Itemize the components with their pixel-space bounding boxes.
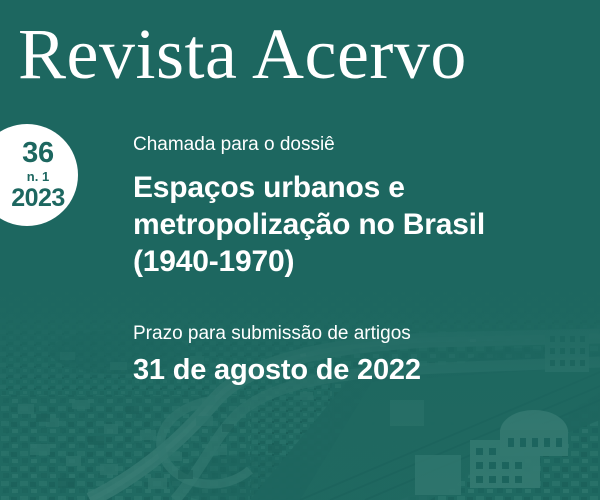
deadline-label: Prazo para submissão de artigos — [133, 322, 580, 346]
call-for-papers-content: Chamada para o dossiê Espaços urbanos e … — [133, 133, 580, 387]
call-eyebrow: Chamada para o dossiê — [133, 133, 580, 157]
deadline-date: 31 de agosto de 2022 — [133, 353, 580, 387]
submission-deadline: Prazo para submissão de artigos 31 de ag… — [133, 322, 580, 387]
journal-title: Revista Acervo — [18, 8, 467, 100]
dossier-title-line-2: metropolização no Brasil — [133, 206, 580, 243]
dossier-title-line-3: (1940-1970) — [133, 243, 580, 280]
issue-year: 2023 — [11, 186, 65, 211]
issue-volume: 36 — [22, 139, 54, 168]
dossier-title: Espaços urbanos e metropolização no Bras… — [133, 169, 580, 280]
journal-call-for-papers-poster: Revista Acervo 36 n. 1 2023 Chamada para… — [0, 0, 600, 500]
dossier-title-line-1: Espaços urbanos e — [133, 169, 580, 206]
